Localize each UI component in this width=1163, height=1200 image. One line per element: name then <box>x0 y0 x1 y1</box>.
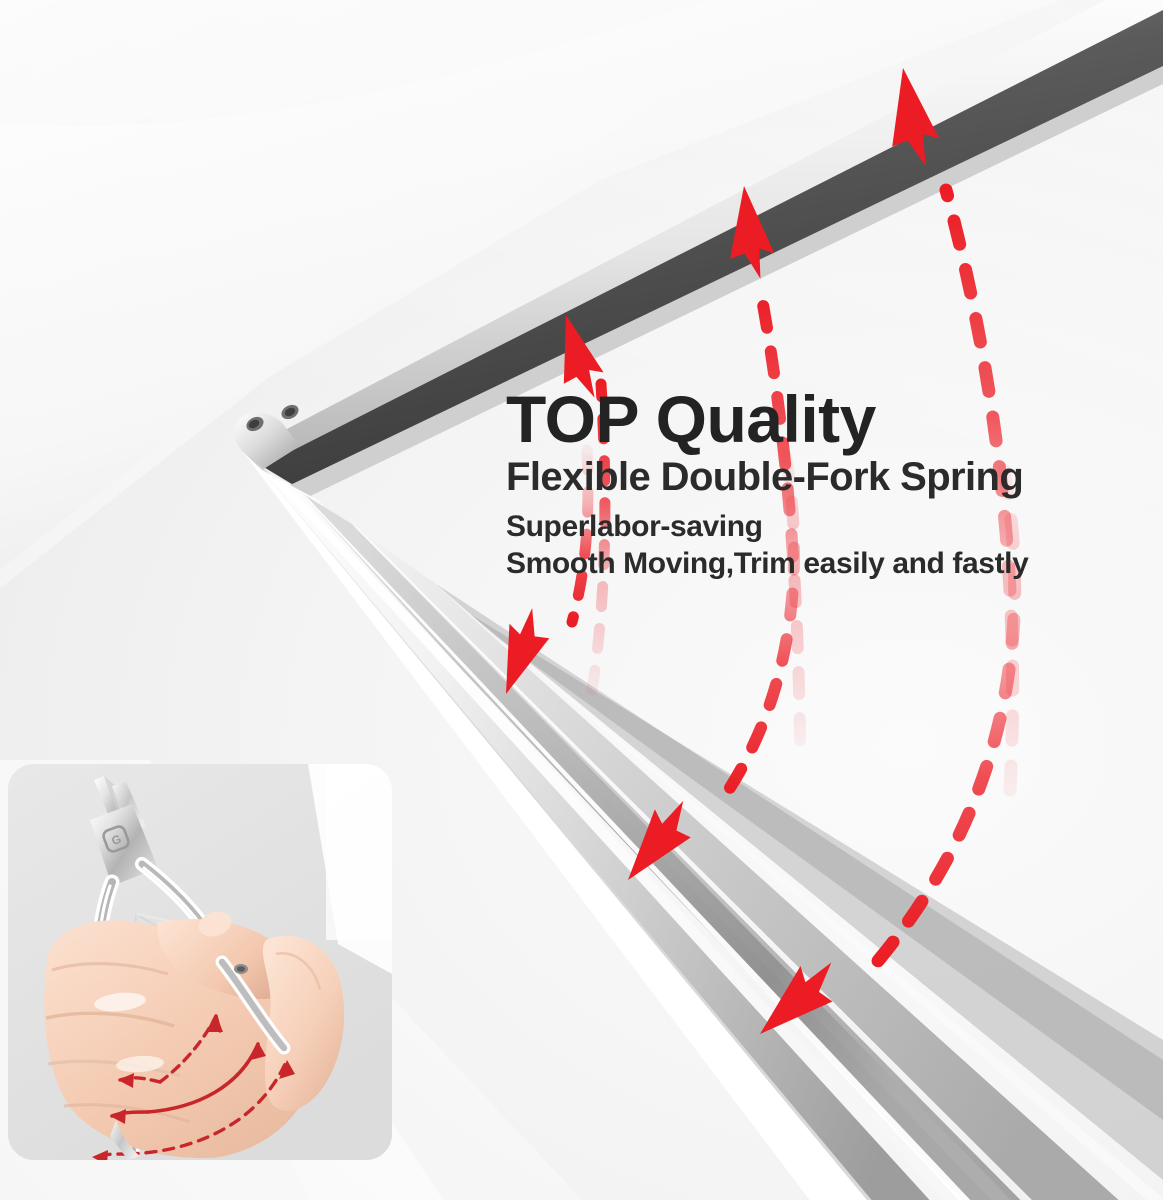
product-feature-banner: TOP Quality Flexible Double-Fork Spring … <box>0 0 1163 1200</box>
usage-inset-illustration: G <box>8 764 392 1160</box>
benefit-line-1: Superlabor-saving <box>506 509 1126 546</box>
usage-inset-card: G <box>8 764 392 1160</box>
benefit-line-2: Smooth Moving,Trim easily and fastly <box>506 546 1126 583</box>
page-title: TOP Quality <box>506 386 1126 452</box>
copy-block: TOP Quality Flexible Double-Fork Spring … <box>506 386 1126 582</box>
page-subtitle: Flexible Double-Fork Spring <box>506 456 1126 499</box>
